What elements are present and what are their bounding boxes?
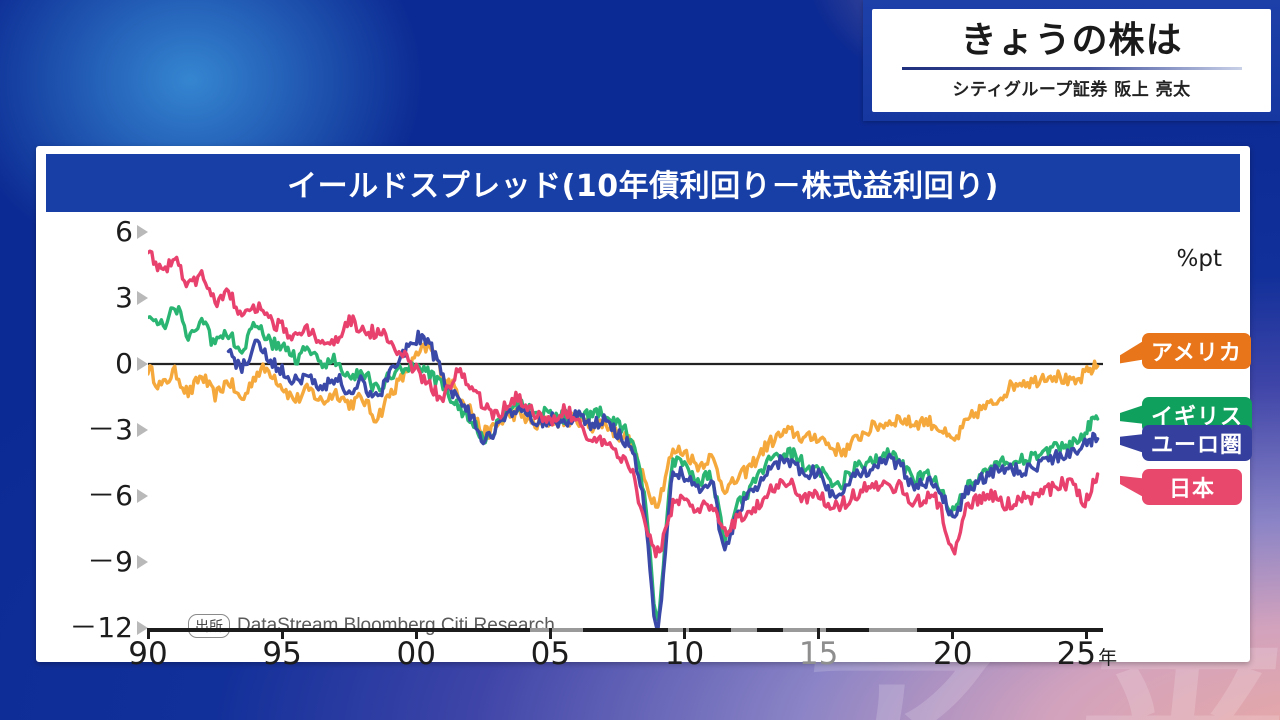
x-tick-label: 20	[933, 636, 972, 672]
x-tick-label: 05	[531, 636, 570, 672]
y-axis: 630－3－6－9－12	[40, 216, 148, 628]
plot-area-wrapper: 630－3－6－9－12 %pt 出所 DataStream Bloomberg…	[40, 216, 1246, 658]
screen: ア 来 きょうの株は シティグループ証券 阪上 亮太 イールドスプレッド(10年…	[0, 0, 1280, 720]
legend-connector	[1120, 434, 1142, 452]
y-tick-marker-icon	[137, 489, 148, 503]
y-tick: －6	[87, 482, 148, 510]
program-title-inner: きょうの株は シティグループ証券 阪上 亮太	[872, 9, 1271, 112]
chart-title-bar: イールドスプレッド(10年債利回り－株式益利回り)	[46, 154, 1240, 212]
y-tick: －3	[87, 416, 148, 444]
chart-title: イールドスプレッド(10年債利回り－株式益利回り)	[287, 161, 999, 205]
y-tick: 3	[115, 284, 148, 312]
y-tick-marker-icon	[137, 357, 148, 371]
series-canvas	[148, 216, 1103, 628]
x-tick-label: 00	[397, 636, 436, 672]
legend-item-japan[interactable]: 日本	[1142, 469, 1242, 505]
y-tick-label: 3	[115, 284, 133, 312]
x-axis-segment	[869, 628, 917, 632]
legend-item-america[interactable]: アメリカ	[1142, 333, 1251, 369]
y-tick-label: －12	[69, 614, 133, 642]
chart-panel: イールドスプレッド(10年債利回り－株式益利回り) 630－3－6－9－12 %…	[36, 146, 1250, 662]
legend-item-euro[interactable]: ユーロ圏	[1142, 425, 1252, 461]
legend-label: アメリカ	[1151, 335, 1242, 367]
x-axis-line	[148, 628, 1103, 632]
x-axis-unit: 年	[1098, 647, 1117, 669]
y-tick-label: 6	[115, 218, 133, 246]
x-axis-segment	[530, 628, 583, 632]
y-tick-marker-icon	[137, 555, 148, 569]
y-tick-label: 0	[115, 350, 133, 378]
legend-label: ユーロ圏	[1151, 427, 1243, 459]
legend-label: 日本	[1169, 471, 1215, 503]
x-tick-label: 90	[128, 636, 167, 672]
legend-connector	[1120, 342, 1142, 366]
y-tick: －9	[87, 548, 148, 576]
series-line	[148, 307, 1098, 620]
x-tick-label: 25年	[1057, 636, 1117, 672]
x-axis-segment	[668, 628, 689, 632]
program-title-divider	[902, 67, 1242, 70]
program-title: きょうの株は	[960, 21, 1182, 59]
legend-connector	[1120, 406, 1142, 424]
y-tick-label: －3	[87, 416, 133, 444]
legend: アメリカイギリスユーロ圏日本	[1120, 216, 1250, 628]
x-axis-segment	[731, 628, 758, 632]
y-tick-marker-icon	[137, 291, 148, 305]
program-subtitle: シティグループ証券 阪上 亮太	[952, 75, 1190, 100]
plot-area	[148, 216, 1103, 628]
y-tick-label: －9	[87, 548, 133, 576]
y-tick: 6	[115, 218, 148, 246]
y-tick: 0	[115, 350, 148, 378]
y-tick-marker-icon	[137, 423, 148, 437]
x-tick-label: 95	[262, 636, 301, 672]
x-tick-label: 15	[799, 636, 838, 672]
x-axis-labels: 9095000510152025年	[148, 636, 1103, 686]
y-tick-label: －6	[87, 482, 133, 510]
x-axis	[148, 628, 1103, 636]
program-title-card: きょうの株は シティグループ証券 阪上 亮太	[863, 0, 1280, 121]
y-tick-marker-icon	[137, 225, 148, 239]
x-tick-label: 10	[665, 636, 704, 672]
legend-connector	[1120, 474, 1142, 496]
